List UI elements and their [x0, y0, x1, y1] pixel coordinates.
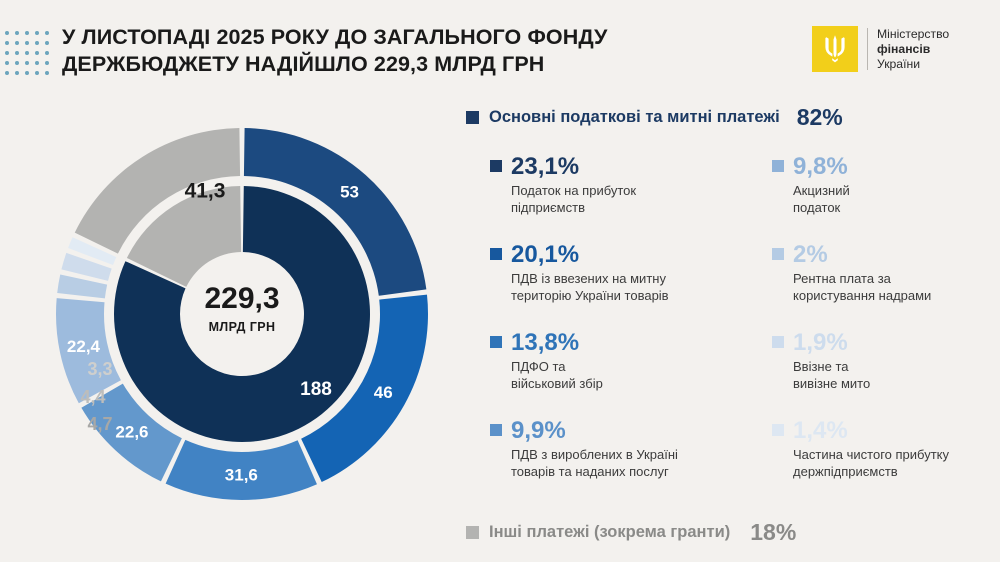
- donut-chart: 229,3 МЛРД ГРН 534631,622,622,44,74,43,3…: [30, 128, 450, 500]
- legend-item-percent: 13,8%: [511, 329, 603, 356]
- donut-slice-label: 41,3: [185, 180, 226, 203]
- donut-center-unit: МЛРД ГРН: [209, 320, 276, 334]
- legend-item-percent: 9,9%: [511, 417, 678, 444]
- legend-item-description: Ввізне тавивізне мито: [793, 359, 870, 392]
- legend-item-percent: 20,1%: [511, 241, 669, 268]
- donut-slice-label: 53: [340, 182, 359, 201]
- logo-text-line-2: фінансів: [877, 42, 949, 57]
- legend-item: 1,4%Частина чистого прибуткудержпідприєм…: [772, 417, 1000, 505]
- legend-item-swatch: [490, 160, 502, 172]
- legend-item-description: Акцизнийподаток: [793, 183, 850, 216]
- legend-item: 23,1%Податок на прибутокпідприємств: [490, 153, 772, 241]
- legend-item: 13,8%ПДФО тавійськовий збір: [490, 329, 772, 417]
- donut-slice-label: 4,4: [80, 387, 105, 407]
- legend-group-other-label: Інші платежі (зокрема гранти): [489, 523, 730, 542]
- legend-item-percent: 1,4%: [793, 417, 949, 444]
- legend-item-swatch: [490, 248, 502, 260]
- ministry-logo-text: Міністерство фінансів України: [877, 27, 949, 72]
- donut-center-value: 229,3: [204, 282, 279, 315]
- page-title-line-1: У ЛИСТОПАДІ 2025 РОКУ ДО ЗАГАЛЬНОГО ФОНД…: [62, 24, 722, 51]
- legend-item-description: ПДВ із ввезених на митнутериторію Україн…: [511, 271, 669, 304]
- legend-item-description: Частина чистого прибуткудержпідприємств: [793, 447, 949, 480]
- legend-item-description: ПДВ з вироблених в Українітоварів та над…: [511, 447, 678, 480]
- donut-slice-label: 46: [374, 383, 393, 402]
- legend-item-swatch: [490, 424, 502, 436]
- legend-swatch-other: [466, 526, 479, 539]
- page-title: У ЛИСТОПАДІ 2025 РОКУ ДО ЗАГАЛЬНОГО ФОНД…: [62, 24, 722, 78]
- legend-group-main: Основні податкові та митні платежі 82%: [466, 104, 986, 131]
- dot-grid-decoration: [4, 30, 50, 76]
- donut-slice-label: 22,6: [115, 422, 148, 441]
- legend-item-swatch: [772, 160, 784, 172]
- infographic-page: У ЛИСТОПАДІ 2025 РОКУ ДО ЗАГАЛЬНОГО ФОНД…: [0, 0, 1000, 562]
- legend-item: 2%Рентна плата закористування надрами: [772, 241, 1000, 329]
- legend-items: 23,1%Податок на прибутокпідприємств9,8%А…: [466, 153, 986, 505]
- chart-legend: Основні податкові та митні платежі 82% 2…: [466, 104, 986, 544]
- legend-item: 9,9%ПДВ з вироблених в Українітоварів та…: [490, 417, 772, 505]
- legend-item-description: Рентна плата закористування надрами: [793, 271, 931, 304]
- legend-item-percent: 23,1%: [511, 153, 636, 180]
- logo-text-line-3: України: [877, 57, 949, 72]
- legend-item-percent: 9,8%: [793, 153, 850, 180]
- legend-group-main-label: Основні податкові та митні платежі: [489, 108, 780, 127]
- page-title-line-2: ДЕРЖБЮДЖЕТУ НАДІЙШЛО 229,3 МЛРД ГРН: [62, 51, 722, 78]
- legend-group-other-percent: 18%: [750, 519, 796, 546]
- legend-item-description: ПДФО тавійськовий збір: [511, 359, 603, 392]
- legend-item-percent: 1,9%: [793, 329, 870, 356]
- donut-slice-label: 4,7: [87, 414, 112, 434]
- legend-group-main-percent: 82%: [797, 104, 843, 131]
- logo-text-line-1: Міністерство: [877, 27, 949, 42]
- logo-divider: [867, 28, 868, 70]
- legend-item-percent: 2%: [793, 241, 931, 268]
- donut-slice-label: 31,6: [225, 465, 258, 484]
- legend-group-other: Інші платежі (зокрема гранти) 18%: [466, 519, 986, 546]
- ukraine-trident-icon: [812, 26, 858, 72]
- legend-item-description: Податок на прибутокпідприємств: [511, 183, 636, 216]
- legend-item: 20,1%ПДВ із ввезених на митнутериторію У…: [490, 241, 772, 329]
- donut-slice-label: 3,3: [87, 359, 112, 379]
- legend-swatch-main: [466, 111, 479, 124]
- legend-item: 1,9%Ввізне тавивізне мито: [772, 329, 1000, 417]
- donut-slice-label: 188: [300, 379, 332, 400]
- ministry-logo: Міністерство фінансів України: [812, 26, 949, 72]
- legend-item-swatch: [490, 336, 502, 348]
- donut-slice-label: 22,4: [67, 337, 101, 356]
- legend-item-swatch: [772, 336, 784, 348]
- legend-item: 9,8%Акцизнийподаток: [772, 153, 1000, 241]
- legend-item-swatch: [772, 424, 784, 436]
- legend-item-swatch: [772, 248, 784, 260]
